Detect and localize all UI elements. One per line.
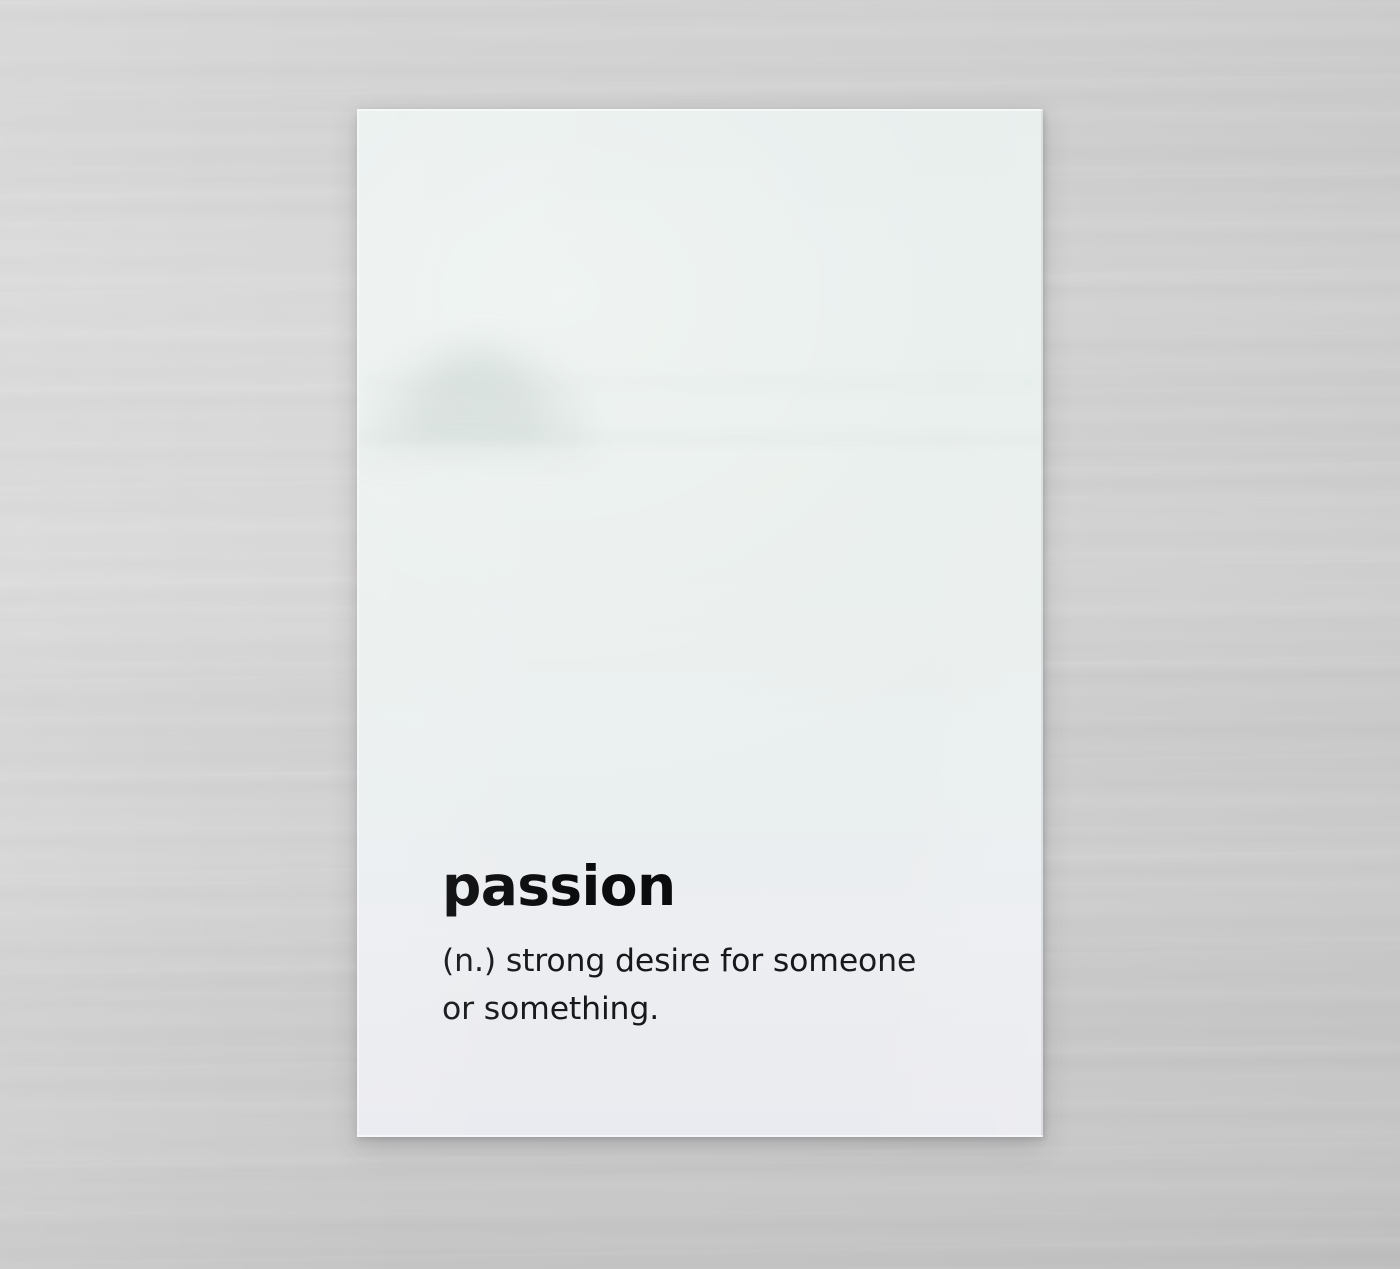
poster-mockup-scene: passion (n.) strong desire for someone o… [0, 0, 1400, 1269]
poster-definition: (n.) strong desire for someone or someth… [442, 938, 982, 1034]
poster[interactable]: passion (n.) strong desire for someone o… [357, 109, 1043, 1137]
poster-edge-right [1041, 109, 1043, 1137]
definition-line-2: or something. [442, 991, 659, 1027]
poster-edge-bottom [357, 1135, 1043, 1137]
poster-edge-left [357, 109, 359, 1137]
definition-line-1: (n.) strong desire for someone [442, 943, 916, 979]
poster-word-title: passion [442, 859, 982, 914]
poster-upper-haze-band [357, 371, 1043, 393]
poster-text-block: passion (n.) strong desire for someone o… [442, 859, 982, 1034]
poster-edge-top [357, 109, 1043, 111]
poster-horizon-band [357, 427, 1043, 457]
